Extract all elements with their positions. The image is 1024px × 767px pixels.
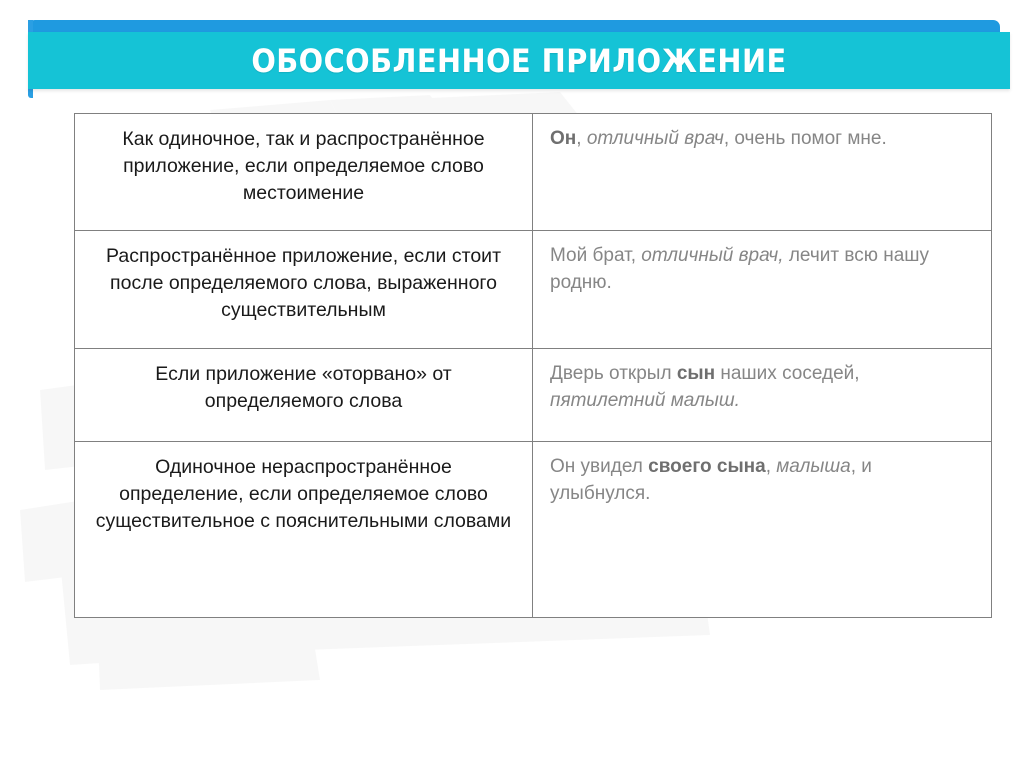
title-banner: ОБОСОБЛЕННОЕ ПРИЛОЖЕНИЕ: [28, 20, 1004, 90]
rules-table: Как одиночное, так и распространённое пр…: [74, 113, 992, 618]
rule-cell: Распространённое приложение, если стоит …: [75, 231, 533, 349]
rule-cell: Если приложение «оторвано» от определяем…: [75, 349, 533, 442]
rule-cell: Одиночное нераспространённое определение…: [75, 442, 533, 618]
table-row: Распространённое приложение, если стоит …: [75, 231, 992, 349]
slide-canvas: ОБОСОБЛЕННОЕ ПРИЛОЖЕНИЕ Как одиночное, т…: [0, 0, 1024, 767]
example-cell: Он, отличный врач, очень помог мне.: [533, 114, 992, 231]
example-cell: Он увидел своего сына, малыша, и улыбнул…: [533, 442, 992, 618]
example-text: Он, отличный врач, очень помог мне.: [533, 114, 991, 167]
rules-table-body: Как одиночное, так и распространённое пр…: [75, 114, 992, 618]
table-row: Как одиночное, так и распространённое пр…: [75, 114, 992, 231]
rule-text: Если приложение «оторвано» от определяем…: [75, 349, 532, 429]
example-cell: Дверь открыл сын наших соседей, пятилетн…: [533, 349, 992, 442]
rule-text: Распространённое приложение, если стоит …: [75, 231, 532, 338]
table-row: Одиночное нераспространённое определение…: [75, 442, 992, 618]
page-title: ОБОСОБЛЕННОЕ ПРИЛОЖЕНИЕ: [77, 32, 961, 89]
rule-cell: Как одиночное, так и распространённое пр…: [75, 114, 533, 231]
example-text: Мой брат, отличный врач, лечит всю нашу …: [533, 231, 991, 311]
example-text: Дверь открыл сын наших соседей, пятилетн…: [533, 349, 991, 429]
example-text: Он увидел своего сына, малыша, и улыбнул…: [533, 442, 991, 522]
rule-text: Одиночное нераспространённое определение…: [75, 442, 532, 549]
rule-text: Как одиночное, так и распространённое пр…: [75, 114, 532, 221]
table-row: Если приложение «оторвано» от определяем…: [75, 349, 992, 442]
example-cell: Мой брат, отличный врач, лечит всю нашу …: [533, 231, 992, 349]
